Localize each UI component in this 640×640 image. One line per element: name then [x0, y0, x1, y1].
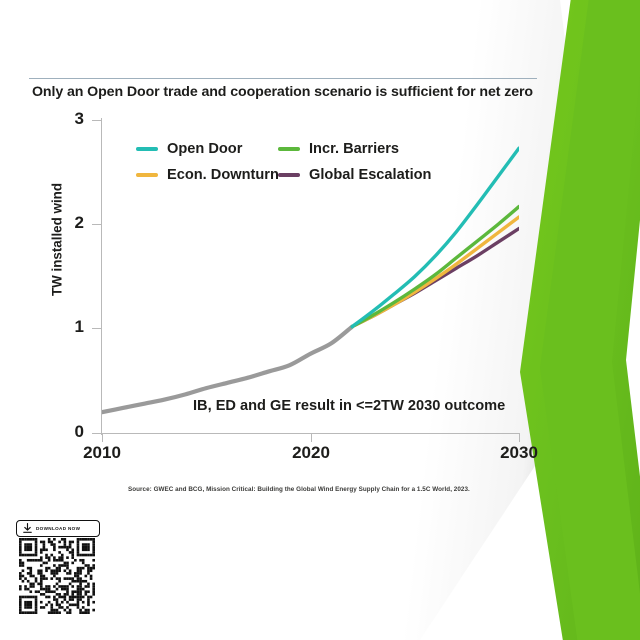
- x-tick-2030: [519, 433, 520, 442]
- y-axis-title: TW installed wind: [50, 135, 65, 345]
- legend-label-econ-downturn: Econ. Downturn: [167, 167, 279, 183]
- chart-legend: Open Door Incr. Barriers Econ. Downturn …: [136, 136, 446, 188]
- legend-item-incr-barriers[interactable]: Incr. Barriers: [278, 141, 399, 157]
- y-tick-label-3: 3: [44, 109, 84, 129]
- download-badge[interactable]: DOWNLOAD NOW: [16, 520, 102, 614]
- legend-swatch-global-escalation: [278, 173, 300, 178]
- legend-swatch-incr-barriers: [278, 147, 300, 152]
- legend-item-econ-downturn[interactable]: Econ. Downturn: [136, 167, 278, 183]
- y-tick-0: [92, 433, 101, 434]
- legend-label-open-door: Open Door: [167, 141, 242, 157]
- source-note: Source: GWEC and BCG, Mission Critical: …: [128, 486, 470, 493]
- legend-label-incr-barriers: Incr. Barriers: [309, 141, 399, 157]
- qr-code[interactable]: [16, 538, 98, 614]
- legend-item-open-door[interactable]: Open Door: [136, 141, 278, 157]
- slide-canvas: Only an Open Door trade and cooperation …: [0, 0, 640, 640]
- download-now-pill[interactable]: DOWNLOAD NOW: [16, 520, 100, 537]
- download-now-label: DOWNLOAD NOW: [36, 526, 80, 531]
- x-tick-label-2020: 2020: [266, 443, 356, 463]
- download-icon: [21, 522, 34, 535]
- x-tick-2020: [311, 433, 312, 442]
- legend-swatch-econ-downturn: [136, 173, 158, 178]
- chart-card: Only an Open Door trade and cooperation …: [0, 0, 640, 640]
- x-tick-label-2030: 2030: [474, 443, 564, 463]
- y-tick-label-0: 0: [44, 422, 84, 442]
- x-tick-label-2010: 2010: [57, 443, 147, 463]
- y-tick-3: [92, 120, 101, 121]
- plot-annotation: IB, ED and GE result in <=2TW 2030 outco…: [193, 398, 505, 414]
- title-divider: [29, 78, 537, 79]
- legend-swatch-open-door: [136, 147, 158, 152]
- legend-label-global-escalation: Global Escalation: [309, 167, 431, 183]
- legend-item-global-escalation[interactable]: Global Escalation: [278, 167, 431, 183]
- page-title: Only an Open Door trade and cooperation …: [32, 84, 552, 100]
- series-line-econ-downturn: [352, 217, 519, 327]
- y-tick-2: [92, 224, 101, 225]
- legend-row-2: Econ. Downturn Global Escalation: [136, 162, 446, 188]
- y-tick-1: [92, 328, 101, 329]
- legend-row-1: Open Door Incr. Barriers: [136, 136, 446, 162]
- x-tick-2010: [102, 433, 103, 442]
